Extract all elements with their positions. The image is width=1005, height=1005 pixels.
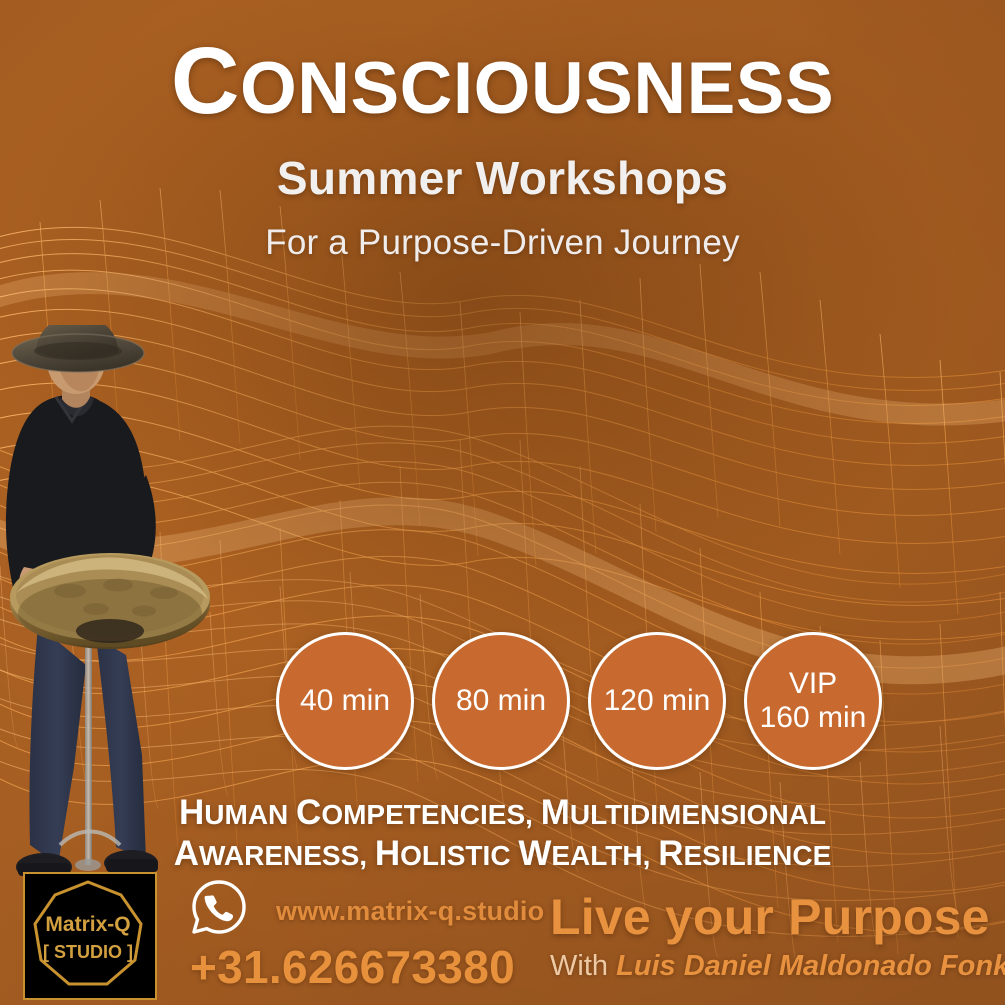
- kw-cap: W: [518, 834, 551, 873]
- duration-badge-120[interactable]: 120 min: [588, 632, 726, 770]
- kw-sm: ESILIENCE: [683, 840, 831, 871]
- presenter-line: With Luis Daniel Maldonado Fonken: [550, 950, 1005, 983]
- presenter-name: Luis Daniel Maldonado Fonken: [616, 950, 1005, 982]
- keywords-line-1: HUMAN COMPETENCIES, MULTIDIMENSIONAL: [0, 793, 1005, 834]
- headline-block: CONSCIOUSNESS Summer Workshops For a Pur…: [0, 34, 1005, 263]
- slogan: Live your Purpose: [550, 888, 990, 946]
- logo-sub-text: [ STUDIO ]: [43, 942, 133, 962]
- duration-badge-40[interactable]: 40 min: [276, 632, 414, 770]
- kw-sm: ULTIDIMENSIONAL: [570, 799, 826, 830]
- kw-sm: WARENESS,: [199, 840, 375, 871]
- badge-line1: 80 min: [456, 684, 546, 718]
- kw-cap: H: [179, 793, 204, 832]
- phone-number[interactable]: +31.626673380: [190, 940, 515, 994]
- title-rest: ONSCIOUSNESS: [240, 48, 834, 129]
- kw-cap: H: [375, 834, 400, 873]
- kw-cap: M: [541, 793, 570, 832]
- kw-cap: A: [174, 834, 199, 873]
- page-title: CONSCIOUSNESS: [0, 34, 1005, 129]
- kw-cap: R: [658, 834, 683, 873]
- kw-sm: OLISTIC: [400, 840, 518, 871]
- kw-sm: OMPETENCIES,: [321, 799, 540, 830]
- title-initial: C: [171, 28, 240, 134]
- duration-badge-group: 40 min 80 min 120 min VIP 160 min: [276, 632, 882, 770]
- duration-badge-vip[interactable]: VIP 160 min: [744, 632, 882, 770]
- matrix-q-studio-logo[interactable]: Matrix-Q [ STUDIO ]: [23, 872, 157, 1000]
- whatsapp-icon[interactable]: [188, 876, 250, 938]
- subtitle: Summer Workshops: [0, 151, 1005, 205]
- keywords-line-2: AWARENESS, HOLISTIC WEALTH, RESILIENCE: [0, 834, 1005, 875]
- badge-line2: 160 min: [760, 701, 867, 735]
- kw-sm: EALTH,: [551, 840, 658, 871]
- keywords-block: HUMAN COMPETENCIES, MULTIDIMENSIONAL AWA…: [0, 793, 1005, 875]
- kw-sm: UMAN: [204, 799, 296, 830]
- with-label: With: [550, 950, 616, 982]
- website-link[interactable]: www.matrix-q.studio: [276, 896, 544, 927]
- badge-line1: 120 min: [604, 684, 711, 718]
- poster-canvas: CONSCIOUSNESS Summer Workshops For a Pur…: [0, 0, 1005, 1005]
- tagline: For a Purpose-Driven Journey: [0, 223, 1005, 263]
- kw-cap: C: [296, 793, 321, 832]
- badge-line1: VIP: [789, 667, 837, 701]
- logo-name-text: Matrix-Q: [45, 913, 130, 936]
- badge-line1: 40 min: [300, 684, 390, 718]
- duration-badge-80[interactable]: 80 min: [432, 632, 570, 770]
